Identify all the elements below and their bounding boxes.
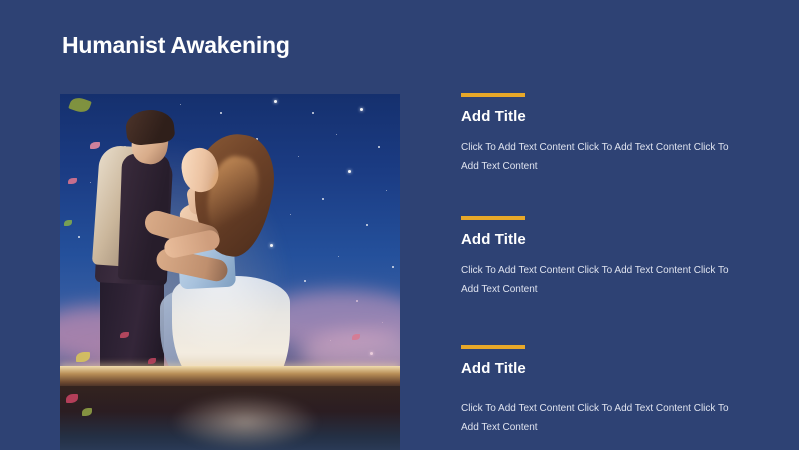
section-body-text[interactable]: Click To Add Text Content Click To Add T… [461, 261, 731, 299]
section-body-text[interactable]: Click To Add Text Content Click To Add T… [461, 399, 731, 437]
section-body-text[interactable]: Click To Add Text Content Click To Add T… [461, 138, 731, 176]
content-section-3: Add Title Click To Add Text Content Clic… [461, 345, 761, 437]
pier-ground [60, 366, 400, 388]
content-section-1: Add Title Click To Add Text Content Clic… [461, 93, 761, 176]
man-legs [100, 272, 164, 380]
accent-bar [461, 345, 525, 349]
illustration-artwork [60, 94, 400, 450]
page-title: Humanist Awakening [62, 32, 290, 59]
section-title: Add Title [461, 360, 761, 377]
water-reflection [170, 394, 320, 450]
section-title: Add Title [461, 108, 761, 125]
accent-bar [461, 216, 525, 220]
presentation-slide: Humanist Awakening [0, 0, 799, 450]
accent-bar [461, 93, 525, 97]
section-title: Add Title [461, 231, 761, 248]
man-hair [124, 108, 175, 147]
content-section-2: Add Title Click To Add Text Content Clic… [461, 216, 761, 299]
content-column: Add Title Click To Add Text Content Clic… [461, 88, 761, 437]
illustration-image[interactable] [60, 94, 400, 450]
